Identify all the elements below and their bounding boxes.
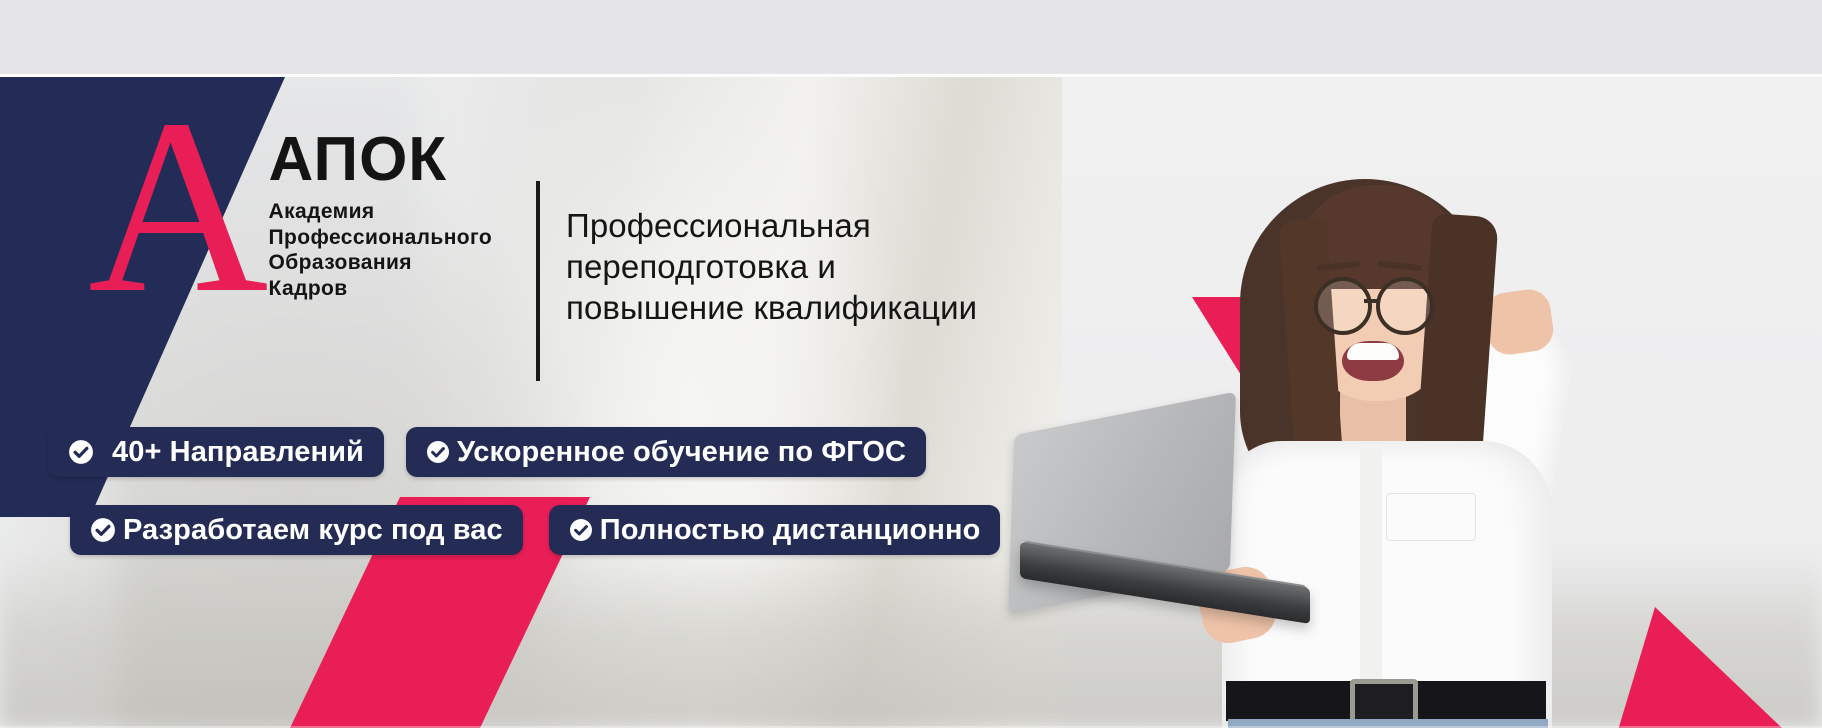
check-circle-icon — [569, 518, 593, 542]
logo-abbreviation: АПОК — [269, 129, 493, 191]
check-circle-icon — [68, 439, 94, 465]
brand-logo[interactable]: А АПОК Академия Профессионального Образо… — [88, 107, 492, 307]
logo-monogram: А — [88, 107, 265, 307]
glasses-lens-right — [1376, 277, 1434, 335]
logo-full-name-line: Образования — [269, 250, 493, 276]
feature-pill-label: Разработаем курс под вас — [116, 514, 503, 547]
glasses-bridge — [1364, 299, 1378, 303]
logo-full-name: Академия Профессионального Образования К… — [269, 199, 493, 301]
logo-full-name-line: Профессионального — [269, 225, 493, 251]
headline-text: Профессиональная переподготовка и повыше… — [566, 205, 986, 328]
feature-pill-label: Ускоренное обучение по ФГОС — [450, 436, 906, 469]
glasses-lens-left — [1314, 277, 1372, 335]
check-circle-icon — [426, 440, 450, 464]
feature-pill-row-bottom: Разработаем курс под вас Полностью диста… — [70, 505, 1000, 555]
feature-pill-row-top: 40+ Направлений Ускоренное обучение по Ф… — [48, 427, 926, 477]
check-circle-icon — [90, 517, 116, 543]
feature-pill-custom-course[interactable]: Разработаем курс под вас — [70, 505, 523, 555]
shirt-pocket — [1386, 493, 1476, 541]
feature-pill-fgos[interactable]: Ускоренное обучение по ФГОС — [406, 427, 926, 477]
feature-pill-remote[interactable]: Полностью дистанционно — [549, 505, 1001, 555]
vertical-divider — [536, 181, 540, 381]
feature-pill-directions[interactable]: 40+ Направлений — [48, 427, 384, 477]
page-top-strip — [0, 0, 1822, 74]
banner-screenshot: А АПОК Академия Профессионального Образо… — [0, 0, 1822, 728]
logo-full-name-line: Кадров — [269, 276, 493, 302]
feature-pill-label: Полностью дистанционно — [593, 514, 981, 547]
shirt-placket — [1360, 447, 1382, 697]
feature-pill-label: 40+ Направлений — [94, 436, 364, 469]
logo-wordmark: АПОК Академия Профессионального Образова… — [269, 107, 493, 301]
logo-full-name-line: Академия — [269, 199, 493, 225]
promo-banner[interactable]: А АПОК Академия Профессионального Образо… — [0, 77, 1822, 728]
teeth — [1347, 343, 1399, 360]
